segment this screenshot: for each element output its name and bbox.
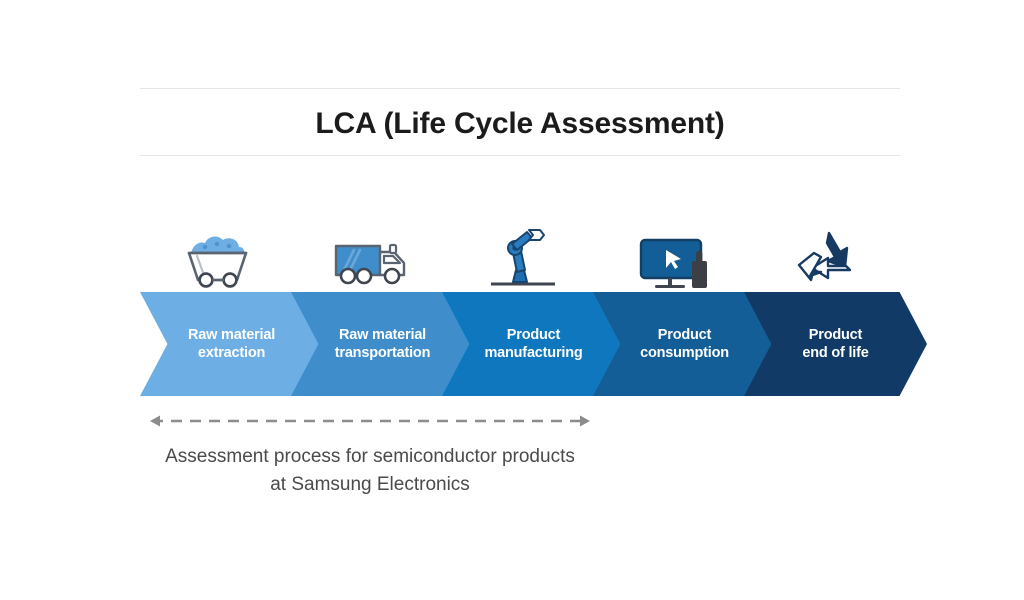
scope-caption: Assessment process for semiconductor pro… <box>110 443 630 498</box>
mining-cart-icon <box>140 214 293 290</box>
desktop-monitor-icon <box>599 214 752 290</box>
lifecycle-stage-flow: Raw material extraction Raw material tra… <box>140 292 905 396</box>
assessment-scope-arrow <box>138 410 602 432</box>
stage-label: Product end of life <box>802 326 868 362</box>
stage-product-consumption[interactable]: Product consumption <box>593 292 776 396</box>
delivery-truck-icon <box>293 214 446 290</box>
stage-product-manufacturing[interactable]: Product manufacturing <box>442 292 625 396</box>
recycle-icon <box>752 214 905 290</box>
stage-icon-row <box>140 214 905 290</box>
page-title: LCA (Life Cycle Assessment) <box>140 96 900 152</box>
stage-product-end-of-life[interactable]: Product end of life <box>744 292 927 396</box>
stage-raw-material-transportation[interactable]: Raw material transportation <box>291 292 474 396</box>
stage-label: Raw material extraction <box>188 326 275 362</box>
robot-arm-icon <box>446 214 599 290</box>
stage-label: Product consumption <box>640 326 729 362</box>
stage-label: Product manufacturing <box>484 326 582 362</box>
header-divider-bottom <box>140 155 900 156</box>
lca-diagram: LCA (Life Cycle Assessment) <box>0 0 1024 600</box>
stage-label: Raw material transportation <box>335 326 430 362</box>
caption-line-1: Assessment process for semiconductor pro… <box>110 443 630 471</box>
caption-line-2: at Samsung Electronics <box>110 471 630 499</box>
stage-raw-material-extraction[interactable]: Raw material extraction <box>140 292 323 396</box>
header-divider-top <box>140 88 900 89</box>
